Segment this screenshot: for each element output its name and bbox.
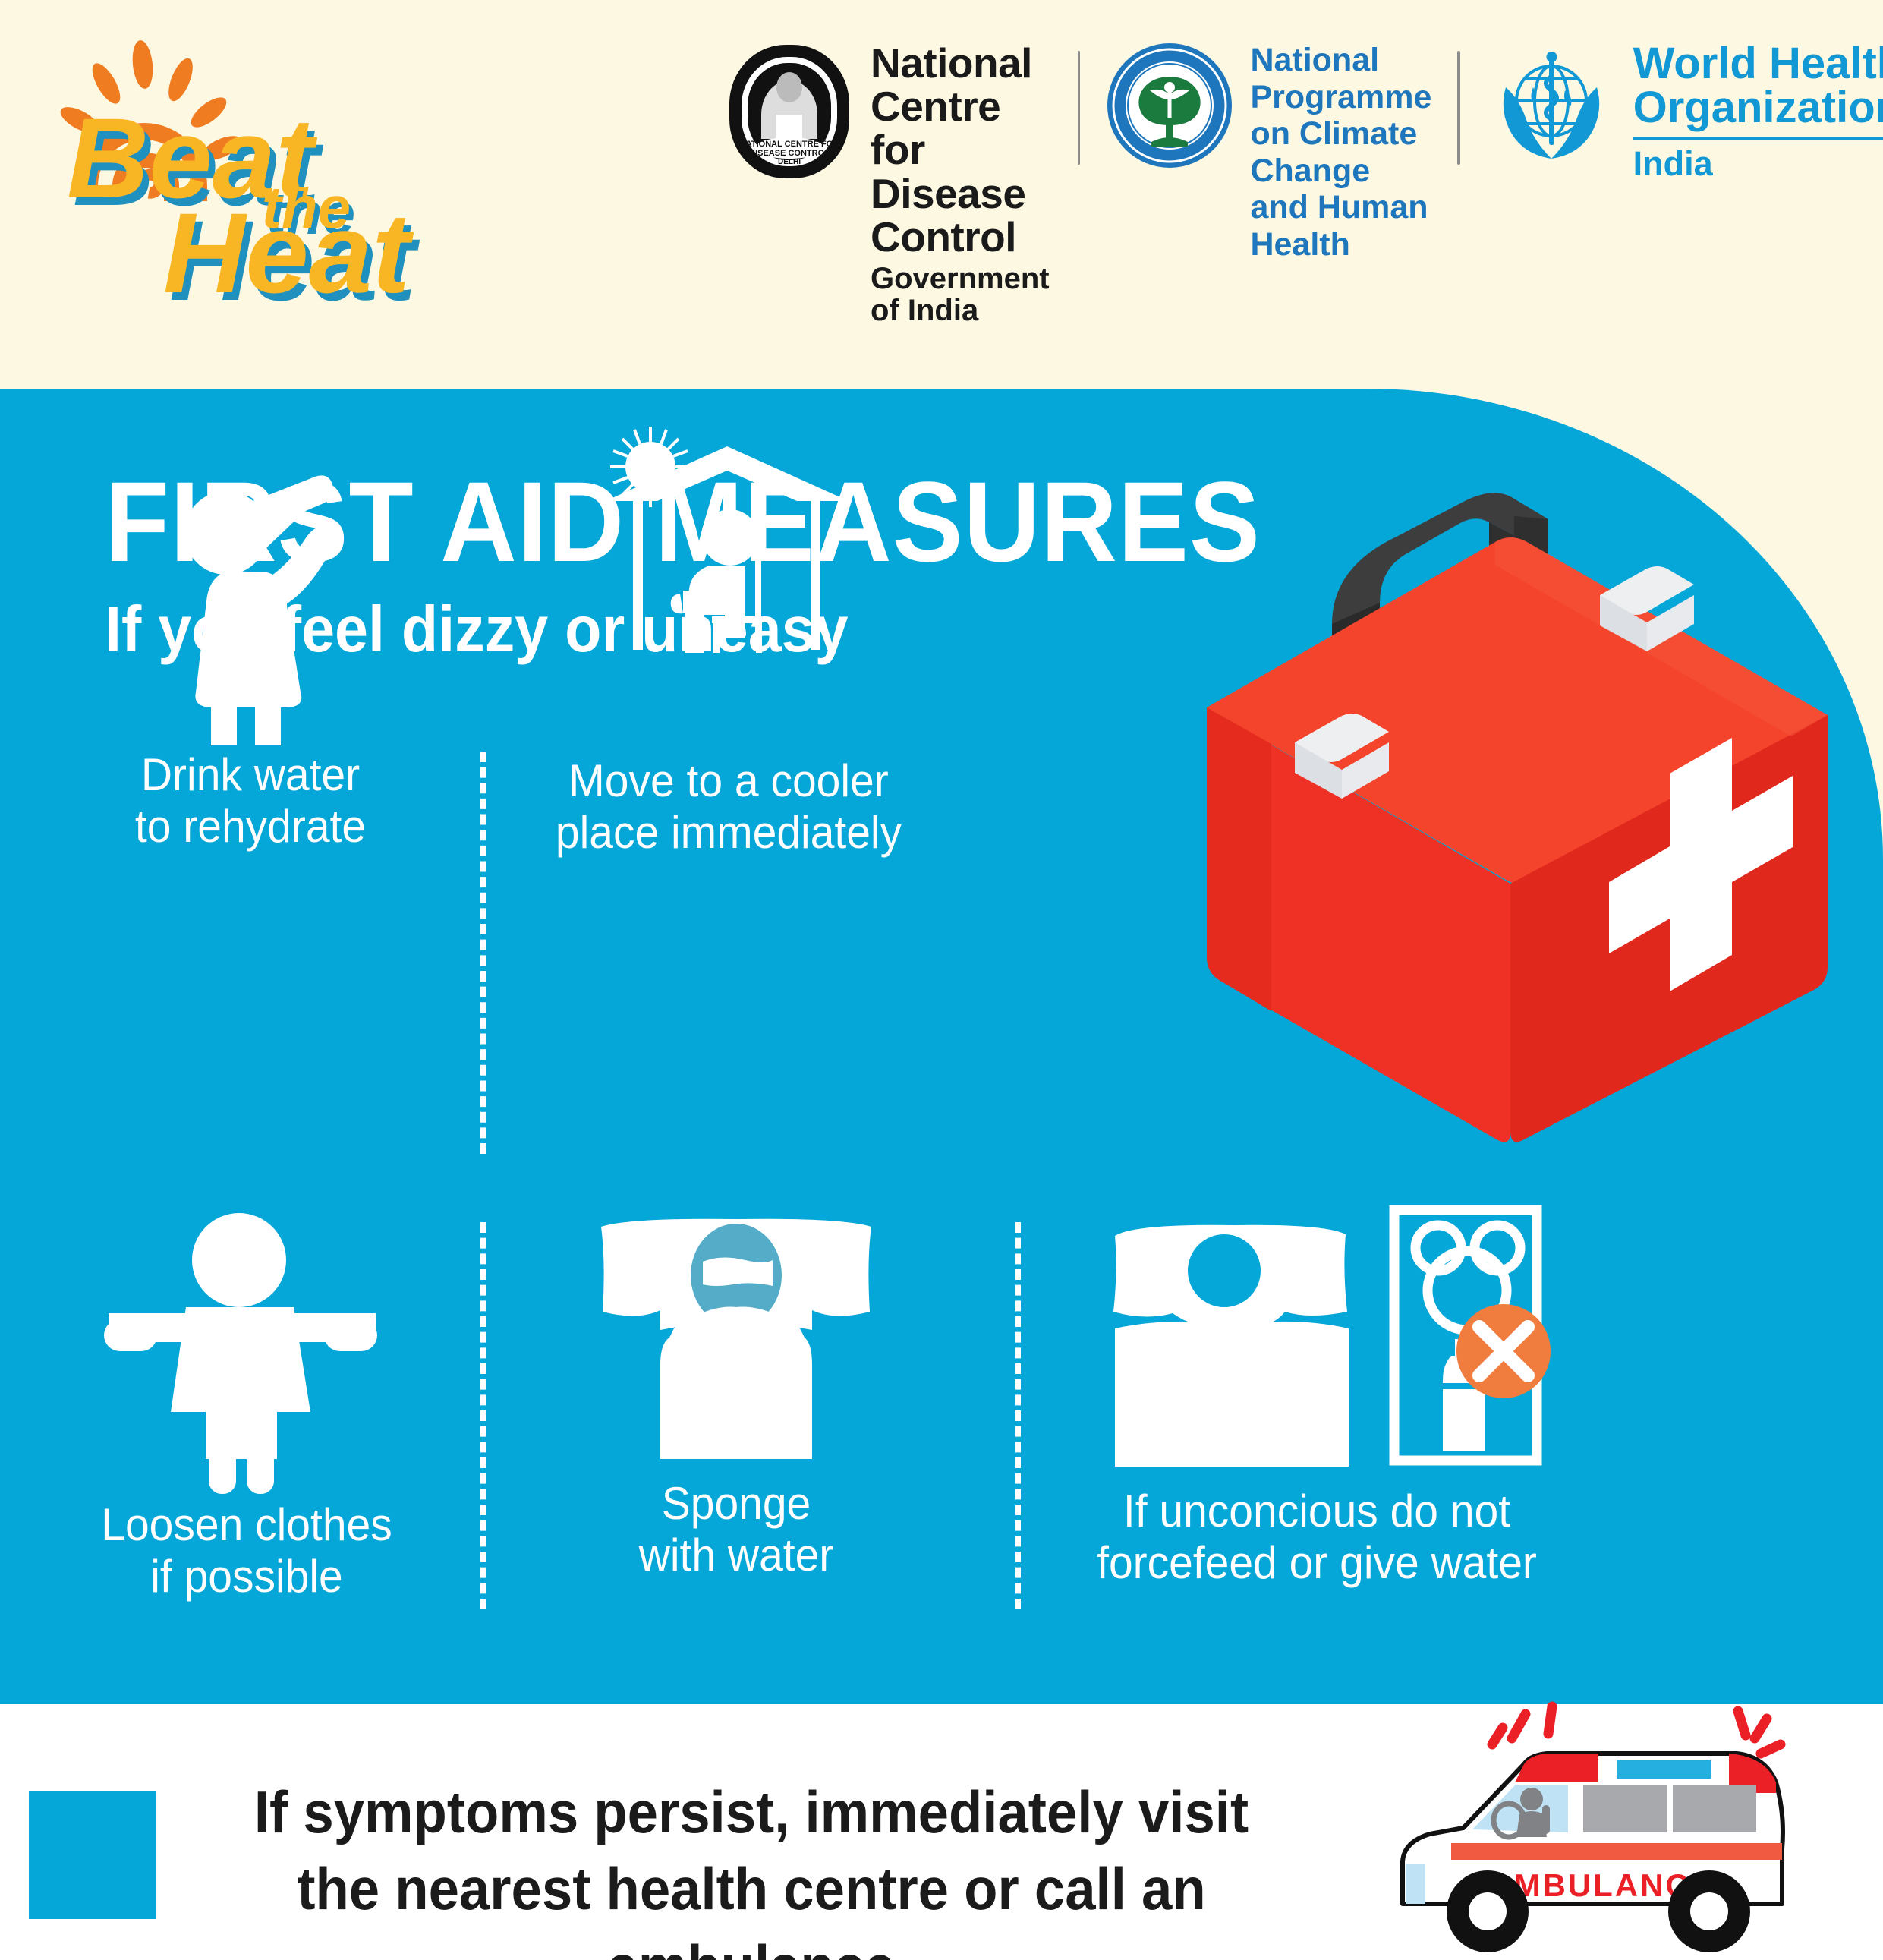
divider-row2-1 xyxy=(480,1222,486,1609)
who-subtitle: India xyxy=(1633,147,1883,181)
first-aid-kit-icon xyxy=(1138,404,1867,1163)
beat-the-heat-wordmark: Beat Beat the the Heat Heat xyxy=(67,94,420,324)
measure-no-forcefeed: If unconcious do not forcefeed or give w… xyxy=(1051,1201,1582,1589)
partner-logo-ncdc: NATIONAL CENTRE FOR DISEASE CONTROL DELH… xyxy=(725,42,1052,326)
measure-drink-water: Drink water to rehydrate xyxy=(53,465,448,852)
npcchh-emblem-icon xyxy=(1106,42,1233,173)
ncdc-emblem-icon: NATIONAL CENTRE FOR DISEASE CONTROL DELH… xyxy=(725,42,854,186)
person-arms-out-icon xyxy=(34,1207,459,1499)
measure-caption: If unconcious do not forcefeed or give w… xyxy=(1065,1486,1570,1589)
shaded-shelter-icon xyxy=(516,425,941,755)
logo-divider-1 xyxy=(1078,51,1080,165)
partner-logo-who: World Health Organization India xyxy=(1486,42,1883,181)
ncdc-emblem-caption-2: DISEASE CONTROL xyxy=(749,149,830,158)
header-bar: Beat Beat the the Heat Heat xyxy=(0,0,1883,389)
footer-message: If symptoms persist, immediately visit t… xyxy=(236,1774,1267,1960)
npcchh-name-line-3: and Human Health xyxy=(1250,189,1431,263)
person-drinking-water-icon xyxy=(53,465,448,749)
ncdc-name-line-2: Disease Control xyxy=(871,172,1052,259)
ncdc-emblem-caption-1: NATIONAL CENTRE FOR xyxy=(740,140,839,149)
ncdc-emblem-caption-3: DELHI xyxy=(778,158,801,166)
beat-the-heat-logo-svg: Beat Beat the the Heat Heat xyxy=(0,23,425,326)
measure-loosen-clothes: Loosen clothes if possible xyxy=(34,1207,459,1602)
siren-flash-icon xyxy=(1492,1706,1781,1754)
measure-caption: Drink water to rehydrate xyxy=(63,749,438,852)
ncdc-name-line-1: National Centre for xyxy=(871,42,1052,172)
ambulance-icon: AMBULANCE xyxy=(1366,1700,1882,1958)
who-name-block: World Health Organization India xyxy=(1633,42,1883,181)
divider-row2-2 xyxy=(1015,1222,1021,1609)
measure-sponge-water: Sponge with water xyxy=(531,1216,941,1581)
person-in-bed-sponge-icon xyxy=(531,1216,941,1478)
divider-row1-1 xyxy=(480,752,486,1154)
blue-square-marker xyxy=(29,1791,156,1919)
infographic-page: Beat Beat the the Heat Heat xyxy=(0,0,1883,1960)
ncdc-subtitle: Government of India xyxy=(871,263,1052,326)
logo-divider-2 xyxy=(1457,51,1459,165)
partner-logos: NATIONAL CENTRE FOR DISEASE CONTROL DELH… xyxy=(725,42,1883,326)
first-aid-panel: FIRST AID MEASURES If you feel dizzy or … xyxy=(0,389,1883,1704)
measure-cooler-place: Move to a cooler place immediately xyxy=(516,425,941,859)
unconscious-no-water-icon xyxy=(1051,1201,1582,1486)
svg-text:Heat: Heat xyxy=(163,189,414,317)
who-rule xyxy=(1633,137,1883,140)
npcchh-name-line-1: National Programme xyxy=(1250,42,1431,115)
npcchh-name-block: National Programme on Climate Change and… xyxy=(1250,42,1431,263)
beat-the-heat-logo: Beat Beat the the Heat Heat xyxy=(0,23,425,326)
who-name-line-1: World Health xyxy=(1633,42,1883,86)
ncdc-name-block: National Centre for Disease Control Gove… xyxy=(871,42,1052,326)
measure-caption: Sponge with water xyxy=(542,1478,931,1581)
who-name-line-2: Organization xyxy=(1633,86,1883,130)
npcchh-name-line-2: on Climate Change xyxy=(1250,115,1431,189)
partner-logo-npcchh: National Programme on Climate Change and… xyxy=(1106,42,1431,263)
measure-caption: Loosen clothes if possible xyxy=(45,1499,449,1602)
who-emblem-icon xyxy=(1486,42,1617,173)
measure-caption: Move to a cooler place immediately xyxy=(527,755,930,859)
footer-bar: If symptoms persist, immediately visit t… xyxy=(0,1704,1883,1960)
